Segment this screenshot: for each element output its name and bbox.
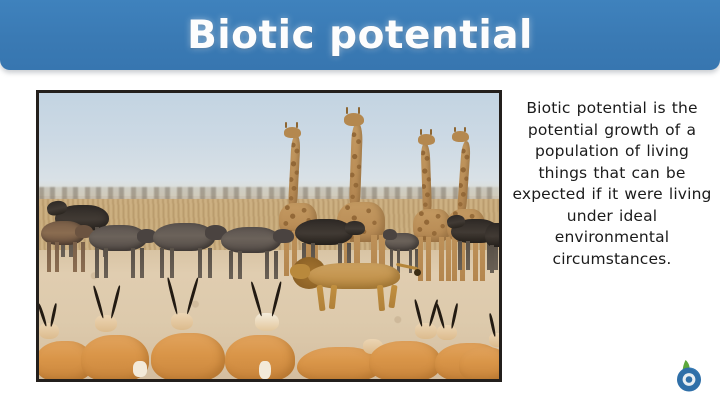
giraffe-head [344,113,364,126]
springbok [151,305,229,379]
definition-text: Biotic potential is the potential growth… [512,98,712,270]
giraffe-spots [288,135,301,207]
page-header-banner: Biotic potential [0,0,720,70]
biology-online-logo[interactable] [673,359,705,393]
giraffe-head [452,131,469,142]
photo-content [39,93,499,379]
lion-tail-tuft [414,269,421,276]
lion [292,253,420,297]
wildebeest [485,219,499,275]
springbok [81,309,153,379]
wildebeest [147,219,227,279]
giraffe-spots [349,123,363,207]
page-title: Biotic potential [187,13,533,58]
wildebeest [83,221,157,279]
logo-core-dot [686,376,693,383]
wildebeest [217,223,295,279]
springbok [369,321,445,379]
giraffe-spots [421,143,432,213]
infographic-page: Biotic potential [0,0,720,404]
springbok [225,307,299,379]
giraffe-head [418,134,435,145]
savanna-photo [36,90,502,382]
springbok [459,331,499,379]
giraffe-head [284,127,301,138]
lion-head [290,264,310,279]
giraffe-spots [457,141,471,213]
